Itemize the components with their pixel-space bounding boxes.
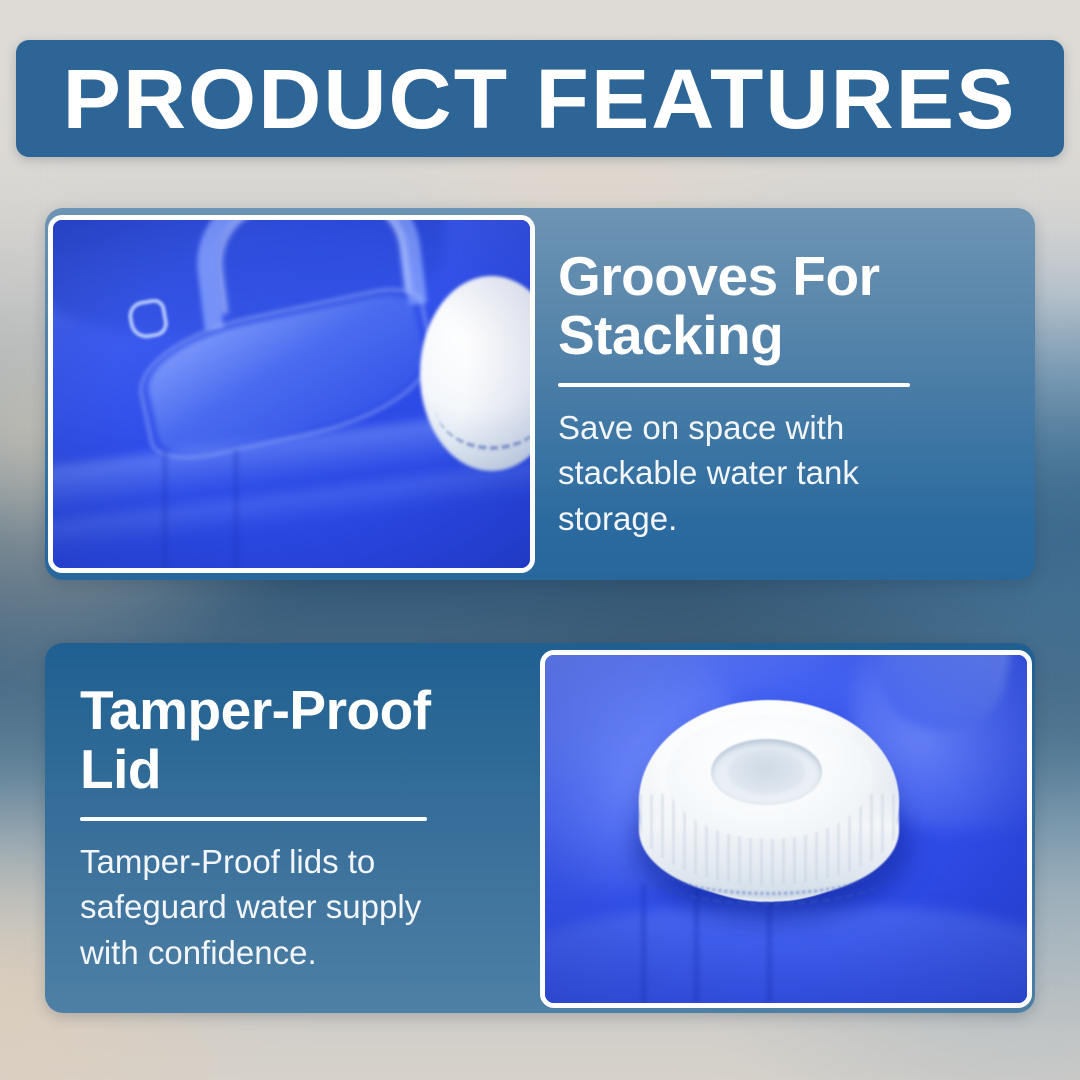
page-title: PRODUCT FEATURES xyxy=(63,57,1017,141)
feature-description: Tamper-Proof lids to safeguard water sup… xyxy=(80,839,480,976)
feature-image-grooves-for-stacking xyxy=(48,215,535,573)
product-features-infographic: PRODUCT FEATURES Grooves Fo xyxy=(0,0,1080,1080)
feature-text-grooves-for-stacking: Grooves For Stacking Save on space with … xyxy=(535,208,1035,580)
header-banner: PRODUCT FEATURES xyxy=(16,40,1064,157)
feature-description: Save on space with stackable water tank … xyxy=(558,405,958,542)
title-divider xyxy=(558,383,910,387)
title-divider xyxy=(80,817,427,821)
tamper-proof-cap-photo xyxy=(545,655,1027,1003)
feature-title: Tamper-Proof Lid xyxy=(80,681,522,800)
feature-card-tamper-proof-lid: Tamper-Proof Lid Tamper-Proof lids to sa… xyxy=(45,643,1035,1013)
photo-vignette xyxy=(53,220,530,568)
feature-title: Grooves For Stacking xyxy=(558,247,1005,366)
feature-image-tamper-proof-lid xyxy=(540,650,1032,1008)
feature-card-grooves-for-stacking: Grooves For Stacking Save on space with … xyxy=(45,208,1035,580)
water-tank-top-photo xyxy=(53,220,530,568)
photo-vignette xyxy=(545,655,1027,1003)
feature-text-tamper-proof-lid: Tamper-Proof Lid Tamper-Proof lids to sa… xyxy=(45,643,540,1013)
